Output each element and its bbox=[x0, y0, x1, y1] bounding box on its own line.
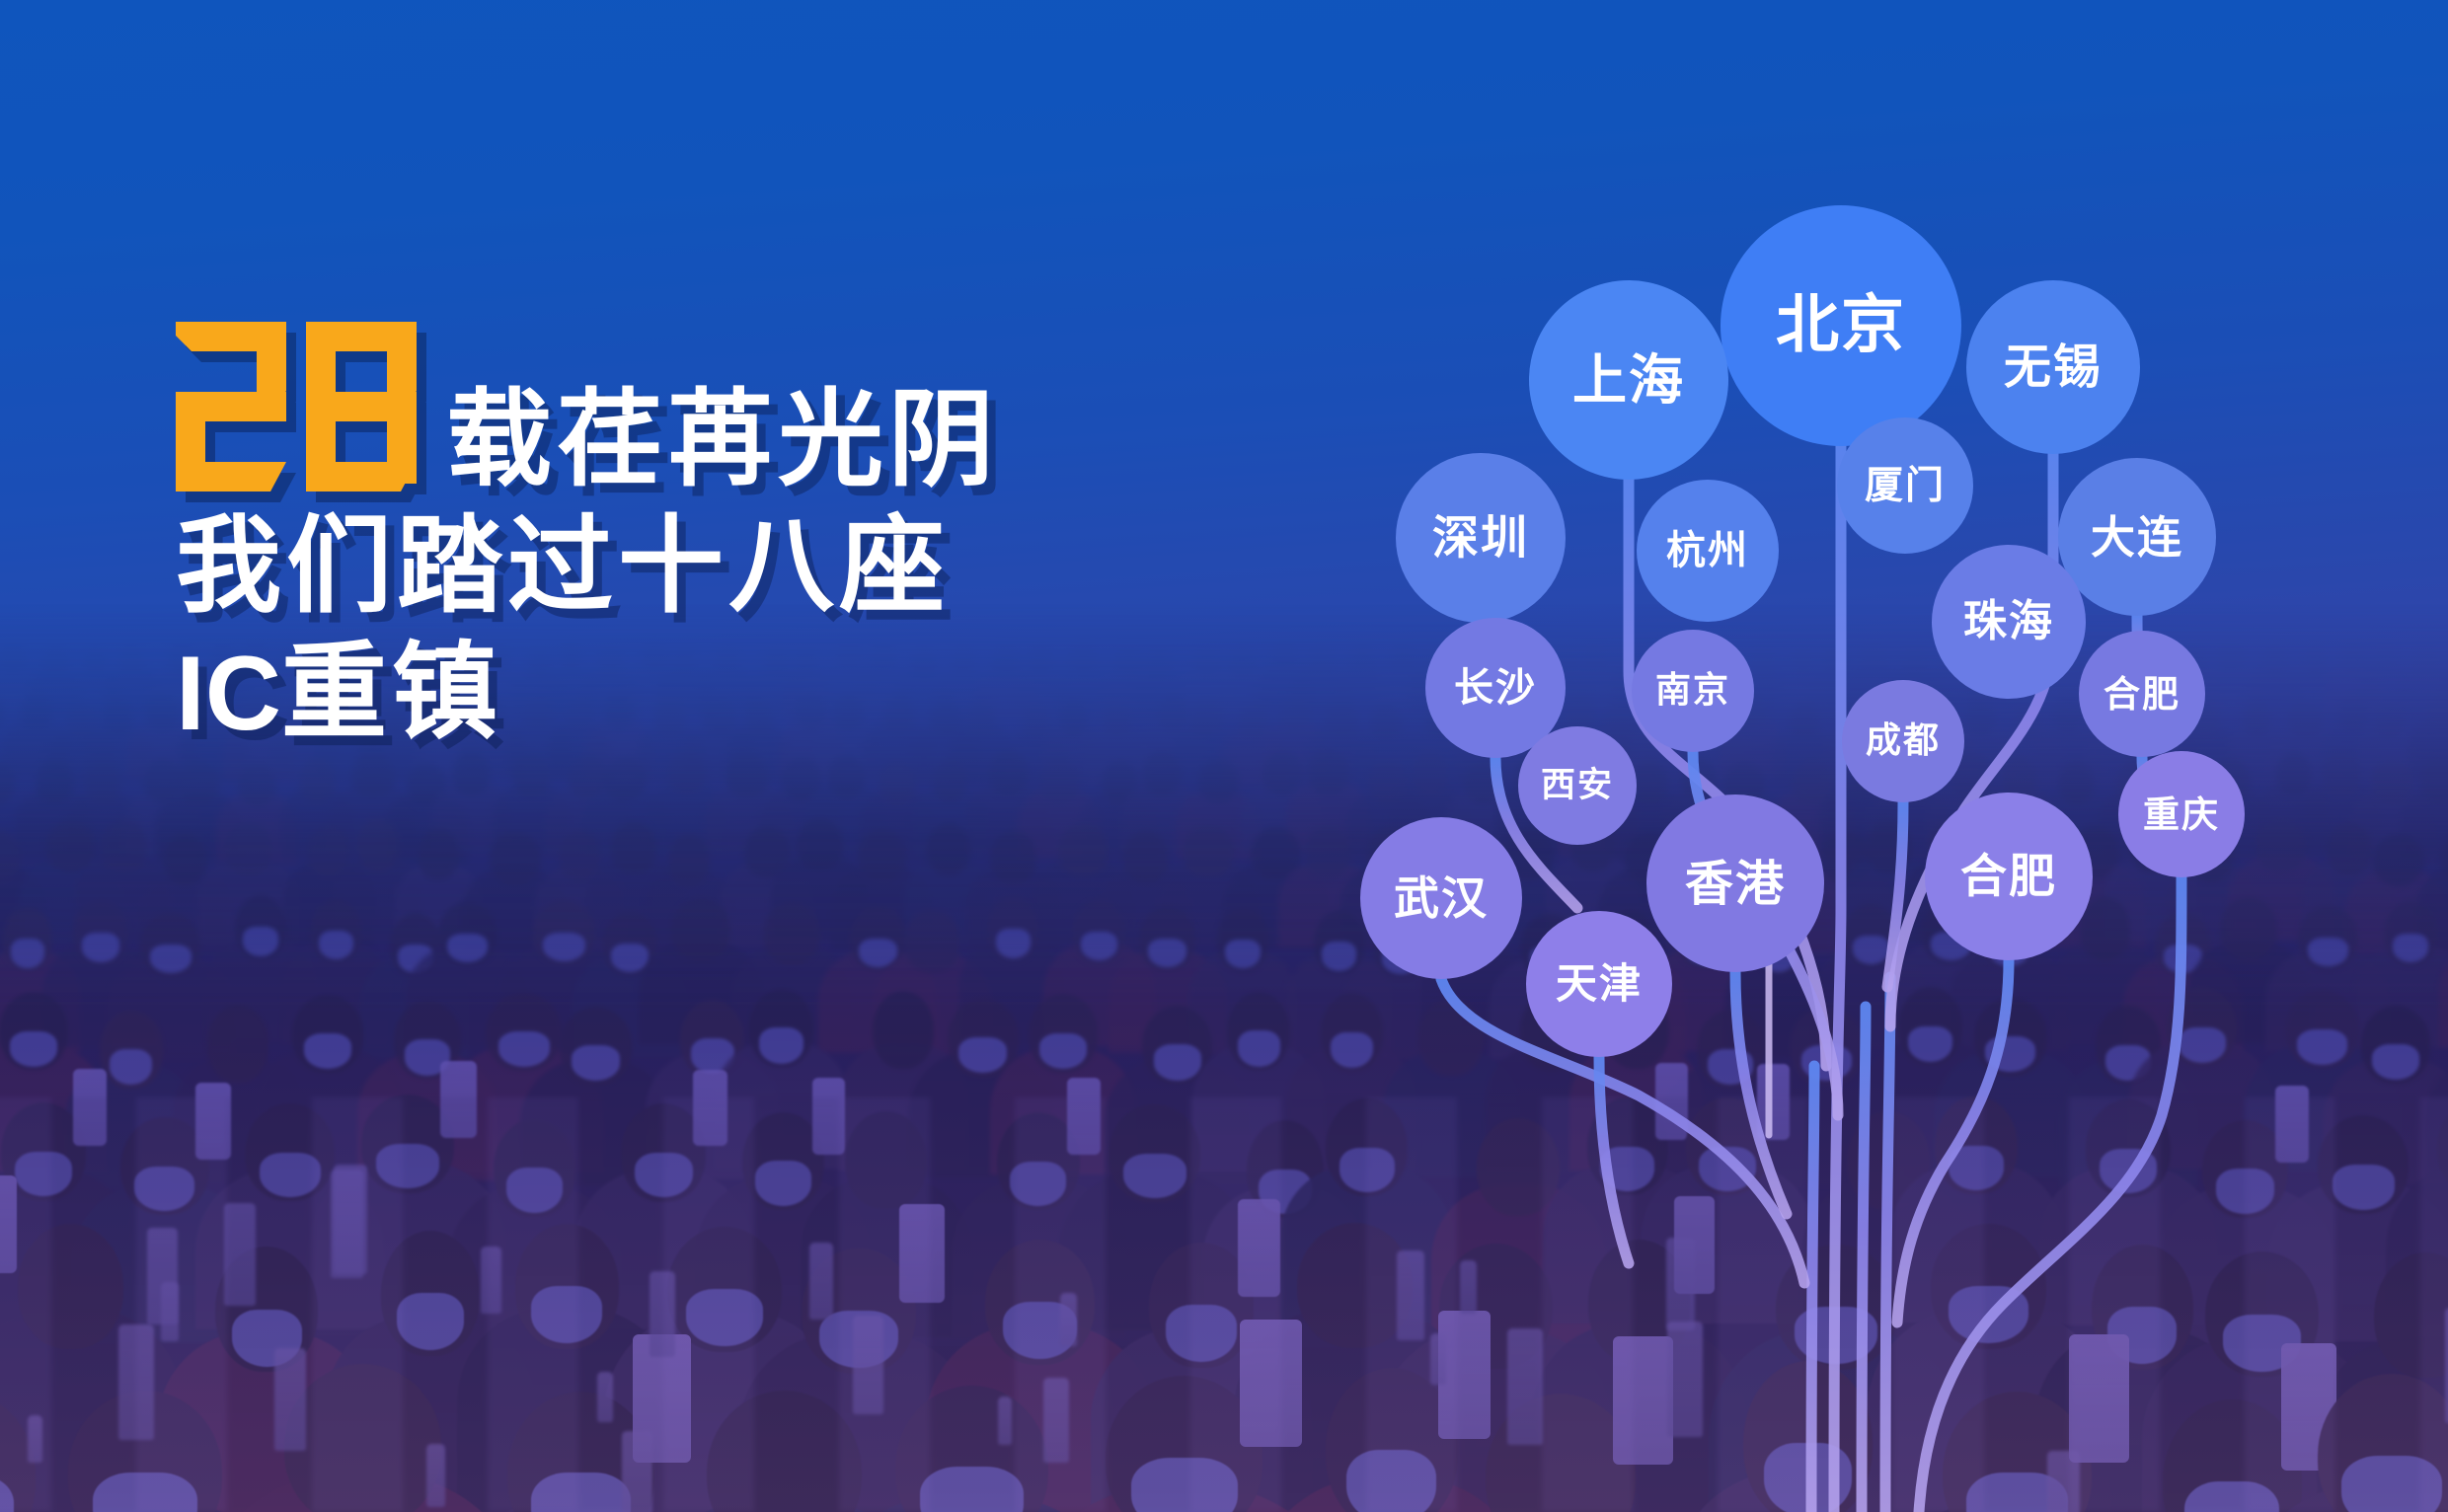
digit-two bbox=[176, 322, 286, 491]
city-bubble-label: 南京 bbox=[1655, 673, 1730, 709]
city-bubble[interactable]: 西安 bbox=[1518, 726, 1637, 845]
city-bubble-label: 大连 bbox=[2091, 515, 2183, 560]
city-bubble-label: 武汉 bbox=[1394, 875, 1489, 921]
city-bubble[interactable]: 南京 bbox=[1632, 630, 1754, 752]
city-bubble[interactable]: 香港 bbox=[1646, 794, 1824, 972]
city-bubble-label: 香港 bbox=[1685, 860, 1786, 908]
city-bubble[interactable]: 武汉 bbox=[1360, 817, 1522, 979]
city-bubble-label: 合肥 bbox=[2104, 676, 2180, 713]
city-bubble-label: 西安 bbox=[1541, 769, 1614, 803]
city-bubble-label: 深圳 bbox=[1432, 515, 1529, 562]
city-bubble-label: 北京 bbox=[1776, 294, 1906, 357]
city-bubble[interactable]: 北京 bbox=[1721, 205, 1961, 446]
city-bubble[interactable]: 杭州 bbox=[1637, 480, 1779, 622]
city-bubble-label: 合肥 bbox=[1960, 854, 2057, 900]
headline-line-2: 我们踏过十八座 bbox=[176, 511, 1262, 622]
city-bubble[interactable]: 深圳 bbox=[1396, 453, 1566, 623]
city-bubble-label: 长沙 bbox=[1454, 668, 1537, 708]
city-bubble[interactable]: 天津 bbox=[1526, 911, 1672, 1057]
headline-block: 载荏苒光阴 我们踏过十八座 IC 重镇 bbox=[176, 326, 1262, 749]
city-bubble-label: 重庆 bbox=[2143, 796, 2220, 833]
city-bubble-label: 杭州 bbox=[1666, 531, 1749, 570]
city-bubble-label: 成都 bbox=[1866, 723, 1941, 759]
city-bubble[interactable]: 无锡 bbox=[1966, 280, 2140, 454]
anniversary-number bbox=[176, 322, 417, 491]
city-bubble[interactable]: 合肥 bbox=[2079, 631, 2205, 757]
digit-eight bbox=[306, 322, 417, 491]
headline-line-1: 载荏苒光阴 bbox=[176, 326, 1262, 495]
headline-line-1-text: 载荏苒光阴 bbox=[446, 385, 999, 495]
headline-line-2-text: 我们踏过十八座 bbox=[176, 511, 950, 622]
headline-ic-label: IC bbox=[176, 638, 281, 748]
city-bubble[interactable]: 重庆 bbox=[2118, 751, 2245, 877]
headline-line-3-text: 重镇 bbox=[281, 638, 502, 748]
city-tree-diagram: 北京上海无锡深圳杭州厦门大连珠海长沙南京合肥成都西安重庆香港武汉合肥天津 bbox=[1313, 118, 2448, 1512]
city-bubble-label: 厦门 bbox=[1865, 467, 1946, 505]
city-bubble-label: 珠海 bbox=[1963, 600, 2054, 643]
city-bubble[interactable]: 合肥 bbox=[1925, 793, 2093, 960]
city-bubble-label: 天津 bbox=[1556, 963, 1643, 1005]
city-bubble[interactable]: 上海 bbox=[1529, 280, 1728, 480]
city-bubble[interactable]: 厦门 bbox=[1837, 417, 1973, 554]
city-bubble[interactable]: 大连 bbox=[2058, 458, 2216, 616]
city-bubble[interactable]: 成都 bbox=[1842, 680, 1964, 802]
headline-line-3: IC 重镇 bbox=[176, 638, 1262, 748]
poster-root: 载荏苒光阴 我们踏过十八座 IC 重镇 bbox=[0, 0, 2448, 1512]
city-bubble[interactable]: 珠海 bbox=[1932, 545, 2086, 699]
city-bubble-label: 无锡 bbox=[2004, 343, 2103, 391]
city-bubble-label: 上海 bbox=[1572, 353, 1685, 408]
